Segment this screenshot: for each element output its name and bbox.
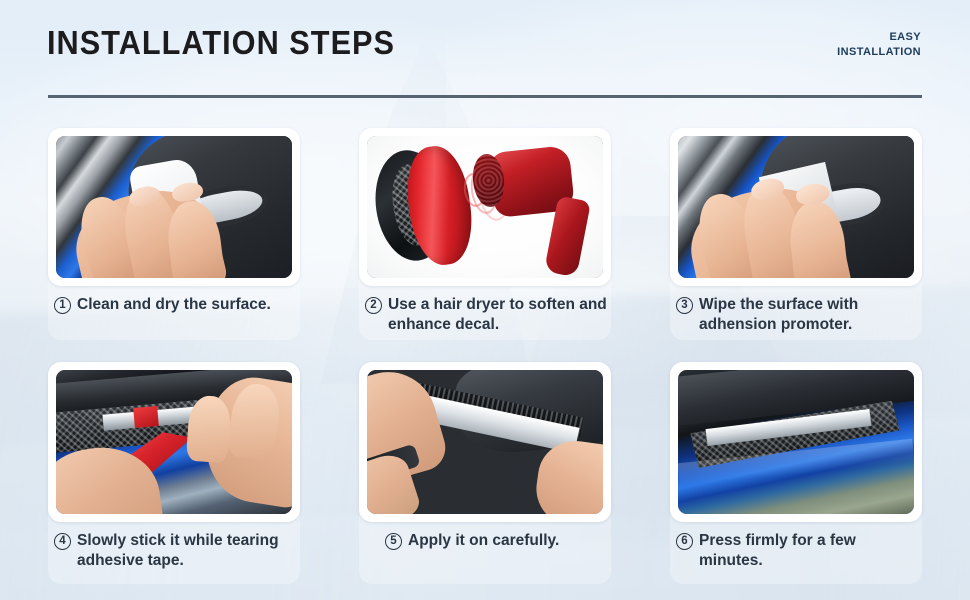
step-photo-frame-2 bbox=[359, 128, 611, 286]
step-text-5: Apply it on carefully. bbox=[408, 531, 609, 551]
step-card-1: 1 Clean and dry the surface. bbox=[48, 128, 300, 340]
step-caption-4: 4 Slowly stick it while tearing adhesive… bbox=[48, 531, 300, 570]
step-number-5: 5 bbox=[385, 533, 402, 550]
step-photo-frame-6 bbox=[670, 362, 922, 522]
step-caption-1: 1 Clean and dry the surface. bbox=[48, 295, 300, 315]
step-photo-frame-5 bbox=[359, 362, 611, 522]
step-photo-frame-4 bbox=[48, 362, 300, 522]
step-card-6: 6 Press firmly for a few minutes. bbox=[670, 362, 922, 584]
step-text-1: Clean and dry the surface. bbox=[77, 295, 298, 315]
tagline-line-1: EASY bbox=[837, 30, 921, 45]
step-card-5: 5 Apply it on carefully. bbox=[359, 362, 611, 584]
step-photo-frame-1 bbox=[48, 128, 300, 286]
step-number-6: 6 bbox=[676, 533, 693, 550]
step-text-3: Wipe the surface with adhension promoter… bbox=[699, 295, 920, 334]
step-caption-3: 3 Wipe the surface with adhension promot… bbox=[670, 295, 922, 334]
step-photo-2 bbox=[367, 136, 603, 278]
steps-grid: 1 Clean and dry the surface. bbox=[48, 128, 922, 584]
step-text-2: Use a hair dryer to soften and enhance d… bbox=[388, 295, 609, 334]
installation-steps-page: INSTALLATION STEPS EASY INSTALLATION bbox=[0, 0, 970, 600]
step-photo-6 bbox=[678, 370, 914, 514]
step-card-4: 4 Slowly stick it while tearing adhesive… bbox=[48, 362, 300, 584]
step-photo-3 bbox=[678, 136, 914, 278]
step-card-3: 3 Wipe the surface with adhension promot… bbox=[670, 128, 922, 340]
step-photo-1 bbox=[56, 136, 292, 278]
step-caption-2: 2 Use a hair dryer to soften and enhance… bbox=[359, 295, 611, 334]
step-number-3: 3 bbox=[676, 297, 693, 314]
step-number-4: 4 bbox=[54, 533, 71, 550]
page-header: INSTALLATION STEPS EASY INSTALLATION bbox=[0, 0, 970, 108]
step-caption-6: 6 Press firmly for a few minutes. bbox=[670, 531, 922, 570]
step-text-4: Slowly stick it while tearing adhesive t… bbox=[77, 531, 298, 570]
step-caption-5: 5 Apply it on carefully. bbox=[359, 531, 611, 551]
header-divider bbox=[48, 95, 922, 98]
tagline-line-2: INSTALLATION bbox=[837, 45, 921, 60]
step-photo-frame-3 bbox=[670, 128, 922, 286]
step-number-2: 2 bbox=[365, 297, 382, 314]
page-title: INSTALLATION STEPS bbox=[47, 24, 395, 62]
tagline: EASY INSTALLATION bbox=[837, 30, 921, 60]
step-card-2: 2 Use a hair dryer to soften and enhance… bbox=[359, 128, 611, 340]
step-photo-4 bbox=[56, 370, 292, 514]
step-number-1: 1 bbox=[54, 297, 71, 314]
red-backing-tab-icon bbox=[133, 406, 158, 428]
step-text-6: Press firmly for a few minutes. bbox=[699, 531, 920, 570]
step-photo-5 bbox=[367, 370, 603, 514]
